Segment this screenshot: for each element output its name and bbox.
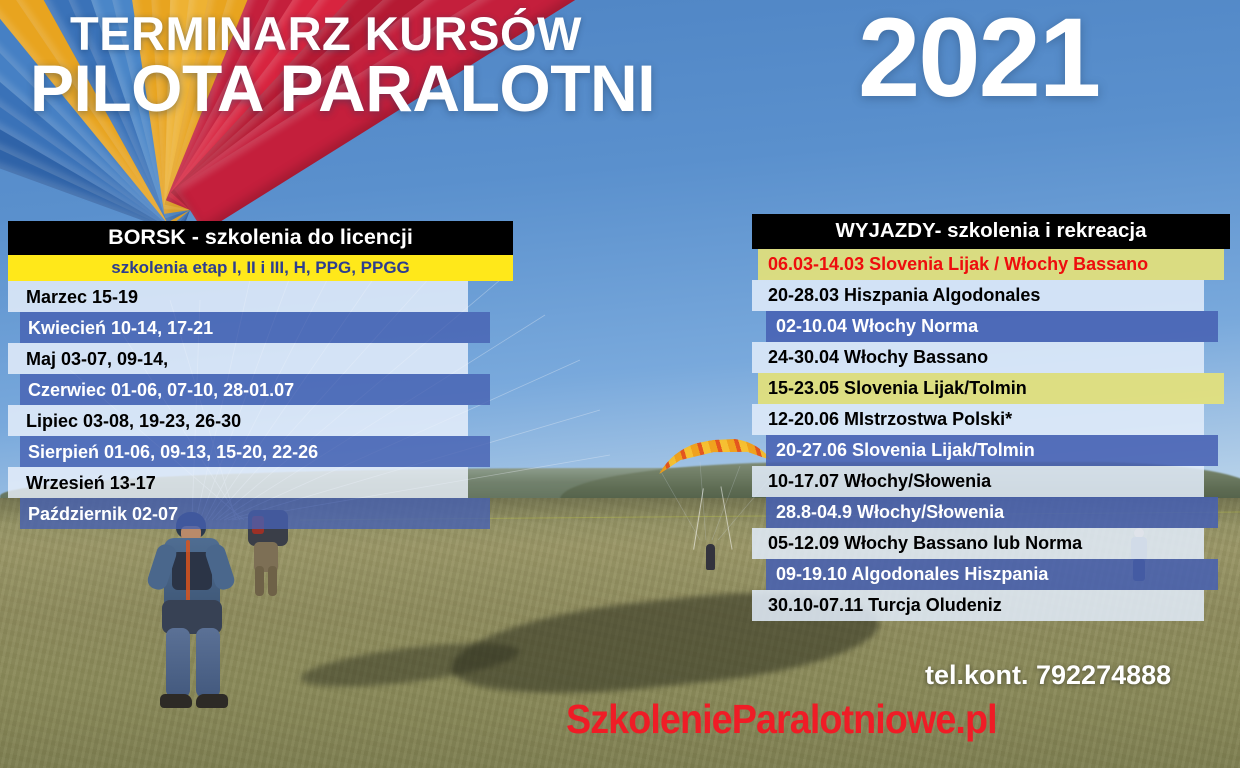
wyjazdy-row-label: 28.8-04.9 Włochy/Słowenia: [776, 503, 1004, 521]
borsk-table-subheader: szkolenia etap I, II i III, H, PPG, PPGG: [8, 255, 513, 282]
borsk-row-label: Wrzesień 13-17: [26, 474, 156, 492]
borsk-rows-container: Marzec 15-19Kwiecień 10-14, 17-21Maj 03-…: [8, 281, 513, 529]
wyjazdy-rows-container: 06.03-14.03 Slovenia Lijak / Włochy Bass…: [752, 249, 1230, 621]
borsk-row-label: Marzec 15-19: [26, 288, 138, 306]
wyjazdy-row: 28.8-04.9 Włochy/Słowenia: [766, 497, 1218, 528]
wyjazdy-row: 20-28.03 Hiszpania Algodonales: [752, 280, 1204, 311]
wyjazdy-row-label: 20-28.03 Hiszpania Algodonales: [768, 286, 1040, 304]
wyjazdy-row-label: 30.10-07.11 Turcja Oludeniz: [768, 596, 1002, 614]
pilot-boot-left: [160, 694, 192, 708]
title-year: 2021: [858, 2, 1099, 114]
distant-pilot: [706, 544, 715, 570]
pilot-boot-right: [196, 694, 228, 708]
second-pilot-leg-left: [255, 566, 264, 596]
pilot-leg-right: [196, 628, 220, 698]
borsk-row-label: Maj 03-07, 09-14,: [26, 350, 168, 368]
borsk-row: Czerwiec 01-06, 07-10, 28-01.07: [20, 374, 490, 405]
borsk-row: Maj 03-07, 09-14,: [8, 343, 468, 374]
borsk-row-label: Kwiecień 10-14, 17-21: [28, 319, 213, 337]
brand-website: SzkolenieParalotniowe.pl: [566, 696, 997, 743]
borsk-row: Kwiecień 10-14, 17-21: [20, 312, 490, 343]
wyjazdy-row: 30.10-07.11 Turcja Oludeniz: [752, 590, 1204, 621]
wyjazdy-row-label: 12-20.06 MIstrzostwa Polski*: [768, 410, 1012, 428]
poster-root: TERMINARZ KURSÓW PILOTA PARALOTNI 2021 B…: [0, 0, 1240, 768]
pilot-leg-left: [166, 628, 190, 698]
wyjazdy-row-label: 15-23.05 Slovenia Lijak/Tolmin: [768, 379, 1027, 397]
wyjazdy-trips-table: WYJAZDY- szkolenia i rekreacja 06.03-14.…: [752, 214, 1230, 621]
wyjazdy-row-label: 06.03-14.03 Slovenia Lijak / Włochy Bass…: [768, 255, 1148, 273]
borsk-schedule-table: BORSK - szkolenia do licencji szkolenia …: [8, 221, 513, 529]
wyjazdy-row-label: 09-19.10 Algodonales Hiszpania: [776, 565, 1048, 583]
borsk-row: Październik 02-07: [20, 498, 490, 529]
wyjazdy-row: 15-23.05 Slovenia Lijak/Tolmin: [758, 373, 1224, 404]
wyjazdy-row-label: 10-17.07 Włochy/Słowenia: [768, 472, 991, 490]
wyjazdy-row: 06.03-14.03 Slovenia Lijak / Włochy Bass…: [758, 249, 1224, 280]
wyjazdy-row: 10-17.07 Włochy/Słowenia: [752, 466, 1204, 497]
borsk-row: Wrzesień 13-17: [8, 467, 468, 498]
wyjazdy-row: 02-10.04 Włochy Norma: [766, 311, 1218, 342]
wyjazdy-row: 24-30.04 Włochy Bassano: [752, 342, 1204, 373]
wyjazdy-row-label: 02-10.04 Włochy Norma: [776, 317, 978, 335]
title-line-2: PILOTA PARALOTNI: [30, 50, 655, 126]
wyjazdy-row: 05-12.09 Włochy Bassano lub Norma: [752, 528, 1204, 559]
borsk-row: Marzec 15-19: [8, 281, 468, 312]
wyjazdy-table-header: WYJAZDY- szkolenia i rekreacja: [752, 214, 1230, 249]
wyjazdy-row-label: 05-12.09 Włochy Bassano lub Norma: [768, 534, 1082, 552]
foreground-pilot: [140, 512, 246, 710]
second-pilot-leg-right: [268, 566, 277, 596]
wyjazdy-row: 20-27.06 Slovenia Lijak/Tolmin: [766, 435, 1218, 466]
borsk-row-label: Październik 02-07: [28, 505, 178, 523]
wyjazdy-row-label: 20-27.06 Slovenia Lijak/Tolmin: [776, 441, 1035, 459]
borsk-row: Lipiec 03-08, 19-23, 26-30: [8, 405, 468, 436]
borsk-row-label: Sierpień 01-06, 09-13, 15-20, 22-26: [28, 443, 318, 461]
wyjazdy-row: 12-20.06 MIstrzostwa Polski*: [752, 404, 1204, 435]
pilot-strap: [186, 540, 190, 606]
contact-phone: tel.kont. 792274888: [925, 660, 1171, 691]
borsk-row: Sierpień 01-06, 09-13, 15-20, 22-26: [20, 436, 490, 467]
borsk-row-label: Lipiec 03-08, 19-23, 26-30: [26, 412, 241, 430]
wyjazdy-row: 09-19.10 Algodonales Hiszpania: [766, 559, 1218, 590]
wyjazdy-row-label: 24-30.04 Włochy Bassano: [768, 348, 988, 366]
borsk-row-label: Czerwiec 01-06, 07-10, 28-01.07: [28, 381, 294, 399]
borsk-table-header: BORSK - szkolenia do licencji: [8, 221, 513, 255]
